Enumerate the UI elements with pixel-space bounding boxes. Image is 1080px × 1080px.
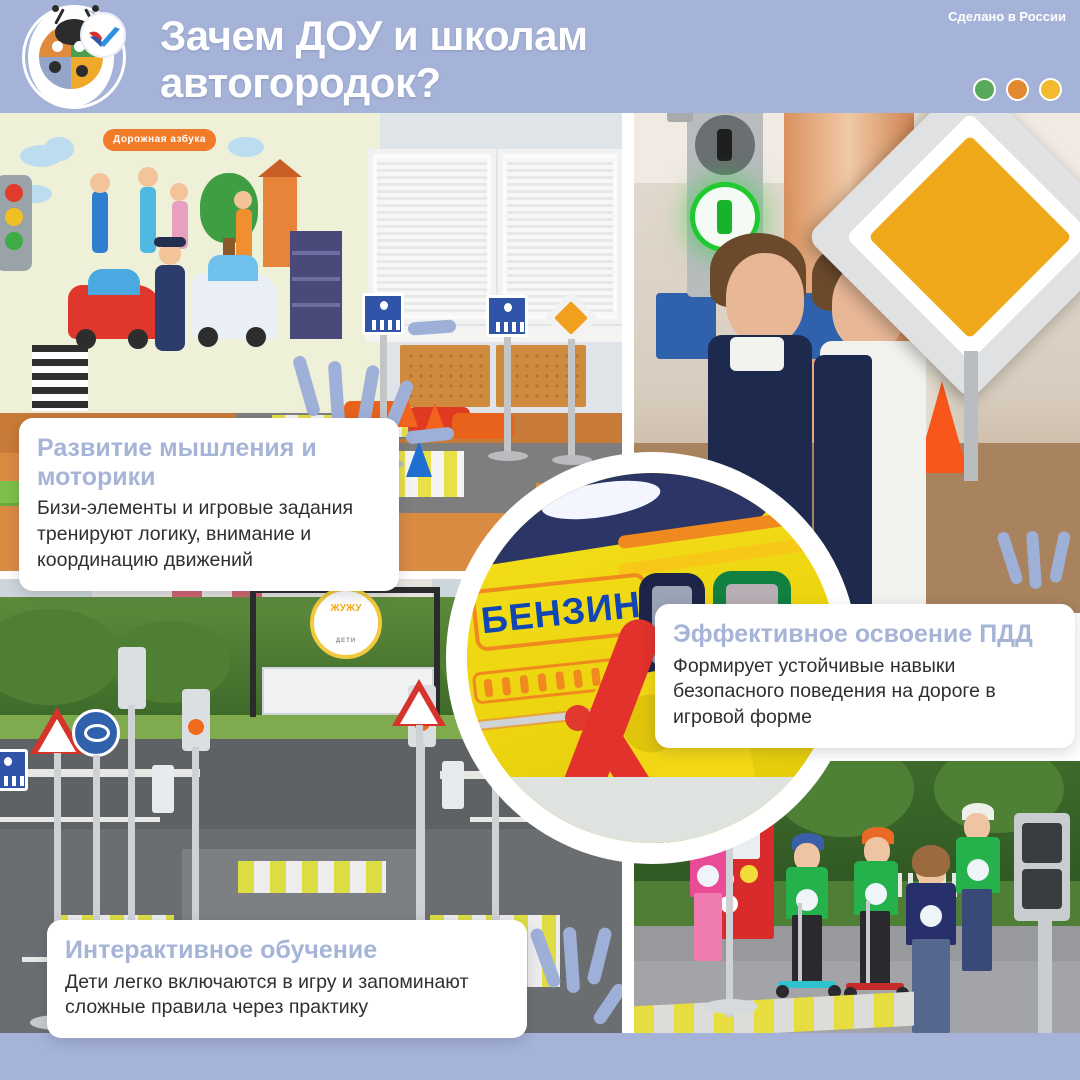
infographic-root: Зачем ДОУ и школам автогородок? Сделано …: [0, 0, 1080, 1080]
track-traffic-light: [1014, 813, 1070, 921]
ladybug-spot-dark-2: [76, 65, 88, 77]
dot-orange: [1006, 78, 1029, 101]
entry-arch: ЖУЖУ ДЕТИ: [250, 587, 440, 671]
sign-blue-small: [0, 749, 28, 791]
header-bar: Зачем ДОУ и школам автогородок? Сделано …: [0, 0, 1080, 113]
card-text: Формирует устойчивые навыки безопасного …: [673, 654, 1057, 732]
flag-check-icon: [88, 26, 122, 48]
ladybug-spot-white-1: [52, 41, 63, 52]
color-dots-group: [973, 78, 1062, 101]
ladybug-spot-dark-1: [49, 61, 61, 73]
card-title: Эффективное освоение ПДД: [673, 620, 1057, 649]
russian-flag-check-badge: [80, 12, 126, 58]
card-title: Развитие мышления и моторики: [37, 434, 381, 491]
brand-badge: ЖУЖУ ДЕТИ: [310, 587, 382, 659]
mural-title: Дорожная азбука: [103, 129, 216, 151]
card-text: Бизи-элементы и игровые задания тренирую…: [37, 496, 381, 574]
made-in-russia-label: Сделано в России: [948, 9, 1066, 24]
ladybug-logo: [22, 5, 126, 109]
antenna-ball-left: [52, 5, 59, 12]
card-interactive-learning[interactable]: Интерактивное обучение Дети легко включа…: [47, 920, 527, 1038]
page-title: Зачем ДОУ и школам автогородок?: [160, 12, 860, 106]
card-effective-traffic-rules[interactable]: Эффективное освоение ПДД Формирует устой…: [655, 604, 1075, 748]
dot-yellow: [1039, 78, 1062, 101]
card-text: Дети легко включаются в игру и запоминаю…: [65, 970, 509, 1022]
antenna-ball-right: [92, 5, 99, 12]
dot-green: [973, 78, 996, 101]
mural-traffic-light: [0, 175, 32, 271]
sign-priority-road-large: [854, 121, 1080, 353]
card-title: Интерактивное обучение: [65, 936, 509, 965]
card-thinking-motor-skills[interactable]: Развитие мышления и моторики Бизи-элемен…: [19, 418, 399, 591]
traffic-light-red-lamp: [695, 115, 755, 175]
